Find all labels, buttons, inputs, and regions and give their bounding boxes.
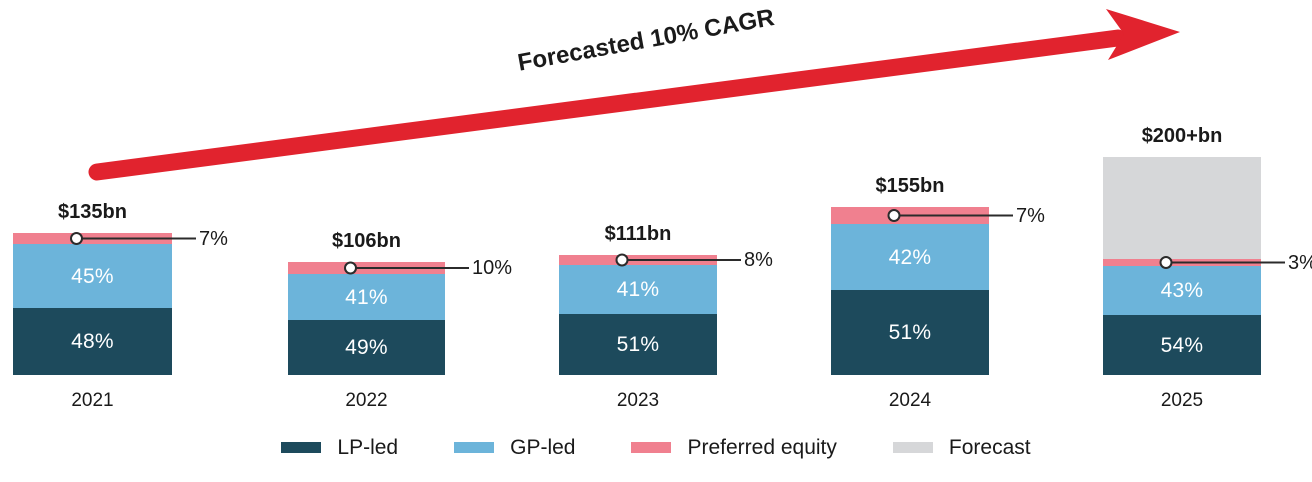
bar-segment-lp-led: 51% [559,314,717,375]
chart-canvas: Forecasted 10% CAGR $135bn45%48%7%2021$1… [0,0,1312,482]
preferred-equity-callout-value: 8% [744,250,773,270]
preferred-equity-callout-value: 7% [199,229,228,249]
bar-segment-gp-led: 45% [13,244,172,308]
bar-total-label: $135bn [0,202,233,222]
segment-value-label: 41% [345,287,388,308]
segment-value-label: 43% [1161,280,1204,301]
legend-item-gp-led[interactable]: GP-led [454,437,575,458]
preferred-equity-callout-value: 7% [1016,206,1045,226]
bar-segment-gp-led: 41% [559,265,717,314]
bar-total-label: $106bn [227,231,507,251]
legend-swatch-icon [893,442,933,453]
legend-label: Preferred equity [687,437,836,458]
legend-swatch-icon [454,442,494,453]
bar-segment-gp-led: 43% [1103,266,1261,315]
preferred-equity-callout-value: 3% [1288,253,1312,273]
bar-segment-preferred-equity [559,255,717,265]
legend-label: LP-led [337,437,398,458]
bar-segment-preferred-equity [13,233,172,244]
legend-item-preferred-equity[interactable]: Preferred equity [631,437,836,458]
bar-segment-gp-led: 42% [831,224,989,290]
x-axis-tick-label: 2024 [810,391,1010,410]
chart-legend: LP-ledGP-ledPreferred equityForecast [0,437,1312,458]
preferred-equity-callout-value: 10% [472,258,512,278]
legend-label: Forecast [949,437,1031,458]
bar-segment-lp-led: 48% [13,308,172,375]
segment-value-label: 54% [1161,335,1204,356]
segment-value-label: 49% [345,337,388,358]
bar-total-label: $111bn [498,224,778,244]
x-axis-tick-label: 2025 [1082,391,1282,410]
legend-swatch-icon [631,442,671,453]
legend-label: GP-led [510,437,575,458]
x-axis-tick-label: 2023 [538,391,738,410]
segment-value-label: 42% [889,247,932,268]
bar-total-label: $200+bn [1042,126,1312,146]
segment-value-label: 45% [71,266,114,287]
bar-total-label: $155bn [770,176,1050,196]
bar-segment-preferred-equity [1103,259,1261,266]
legend-swatch-icon [281,442,321,453]
bar-segment-lp-led: 54% [1103,315,1261,375]
legend-item-forecast[interactable]: Forecast [893,437,1031,458]
bar-segment-lp-led: 51% [831,290,989,375]
bar-segment-gp-led: 41% [288,274,445,320]
segment-value-label: 51% [617,334,660,355]
x-axis-tick-label: 2022 [267,391,467,410]
segment-value-label: 48% [71,331,114,352]
bar-segment-preferred-equity [831,207,989,224]
bars-plot-area: $135bn45%48%7%2021$106bn41%49%10%2022$11… [0,0,1312,482]
bar-segment-lp-led: 49% [288,320,445,375]
bar-segment-preferred-equity [288,262,445,274]
segment-value-label: 51% [889,322,932,343]
x-axis-tick-label: 2021 [0,391,193,410]
legend-item-lp-led[interactable]: LP-led [281,437,398,458]
segment-value-label: 41% [617,279,660,300]
bar-segment-forecast [1103,157,1261,259]
